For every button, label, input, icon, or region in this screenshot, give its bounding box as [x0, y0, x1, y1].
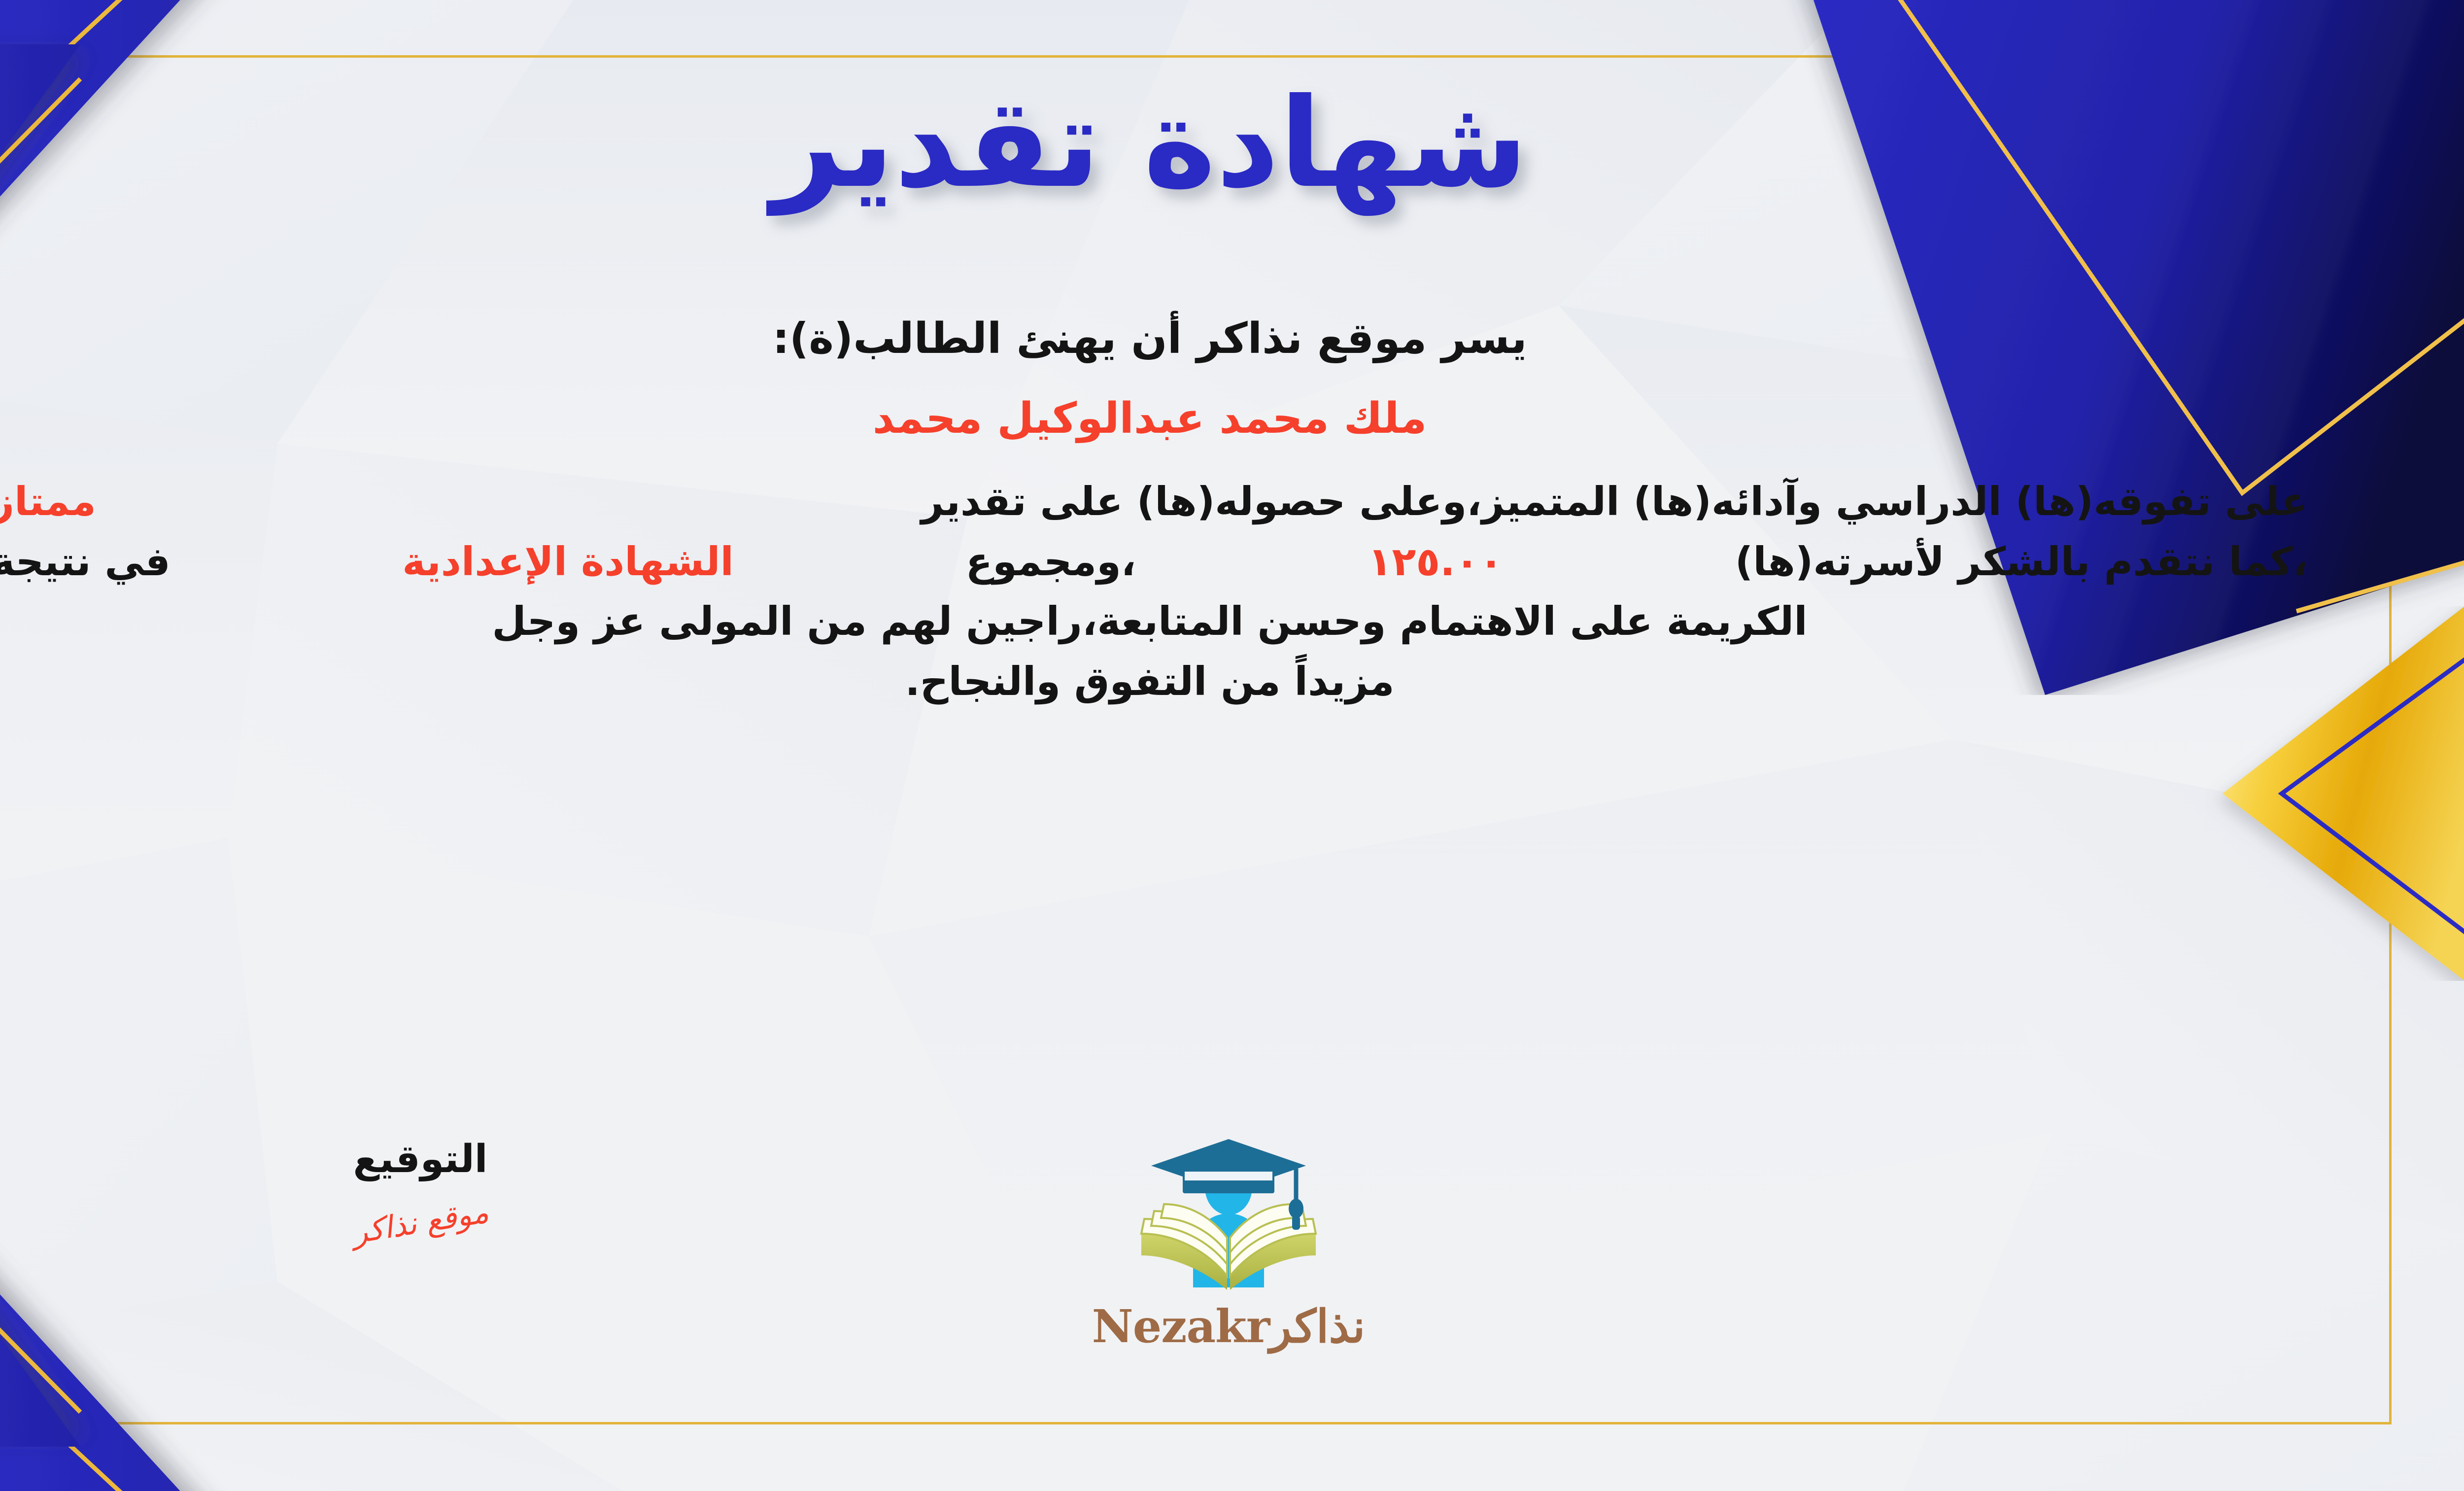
- page-title: شهادة تقدير: [0, 80, 2392, 228]
- signature-block: التوقيع موقع نذاكر: [238, 1137, 603, 1240]
- exam-name: الشهادة الإعدادية: [402, 532, 734, 592]
- page-title-text: شهادة تقدير: [766, 71, 1528, 216]
- logo-arabic-text: نذاكر: [1269, 1300, 1365, 1353]
- body-paragraph: على تفوقه(ها) الدراسي وآدائه(ها) المتميز…: [0, 472, 2308, 711]
- body-line-2-prefix: في نتيجة: [0, 532, 171, 592]
- logo-wordmark: نذاكرNezakr: [1041, 1300, 1416, 1353]
- body-line-1: على تفوقه(ها) الدراسي وآدائه(ها) المتميز…: [0, 472, 2308, 532]
- logo-latin-text: Nezakr: [1092, 1300, 1270, 1353]
- body-line-2-suffix: ،كما نتقدم بالشكر لأسرته(ها): [1735, 532, 2308, 592]
- brand-logo: نذاكرNezakr: [1041, 1132, 1416, 1353]
- grade-value: ممتاز: [0, 472, 96, 532]
- certificate-footer: التوقيع موقع نذاكر: [0, 1137, 2392, 1413]
- body-line-2: ،كما نتقدم بالشكر لأسرته(ها) ١٢٥.٠٠ ،ومج…: [0, 532, 2308, 592]
- certificate-canvas: شهادة تقدير يسر موقع نذاكر أن يهنئ الطال…: [0, 0, 2464, 1491]
- total-score-value: ١٢٥.٠٠: [1368, 532, 1504, 592]
- title-artwork: شهادة تقدير: [583, 80, 1716, 228]
- student-name: ملك محمد عبدالوكيل محمد: [873, 394, 1427, 443]
- body-line-1-text: على تفوقه(ها) الدراسي وآدائه(ها) المتميز…: [921, 472, 2308, 532]
- signature-script: موقع نذاكر: [238, 1176, 603, 1269]
- body-line-4: مزيداً من التفوق والنجاح.: [0, 652, 2308, 712]
- total-score-label: ،ومجموع: [965, 532, 1136, 592]
- certificate-content: شهادة تقدير يسر موقع نذاكر أن يهنئ الطال…: [0, 55, 2392, 1424]
- body-line-3: الكريمة على الاهتمام وحسن المتابعة،راجين…: [0, 591, 2308, 652]
- logo-artwork: [1113, 1132, 1344, 1295]
- intro-line: يسر موقع نذاكر أن يهنئ الطالب(ة):: [773, 314, 1527, 363]
- signature-label: التوقيع: [238, 1137, 603, 1181]
